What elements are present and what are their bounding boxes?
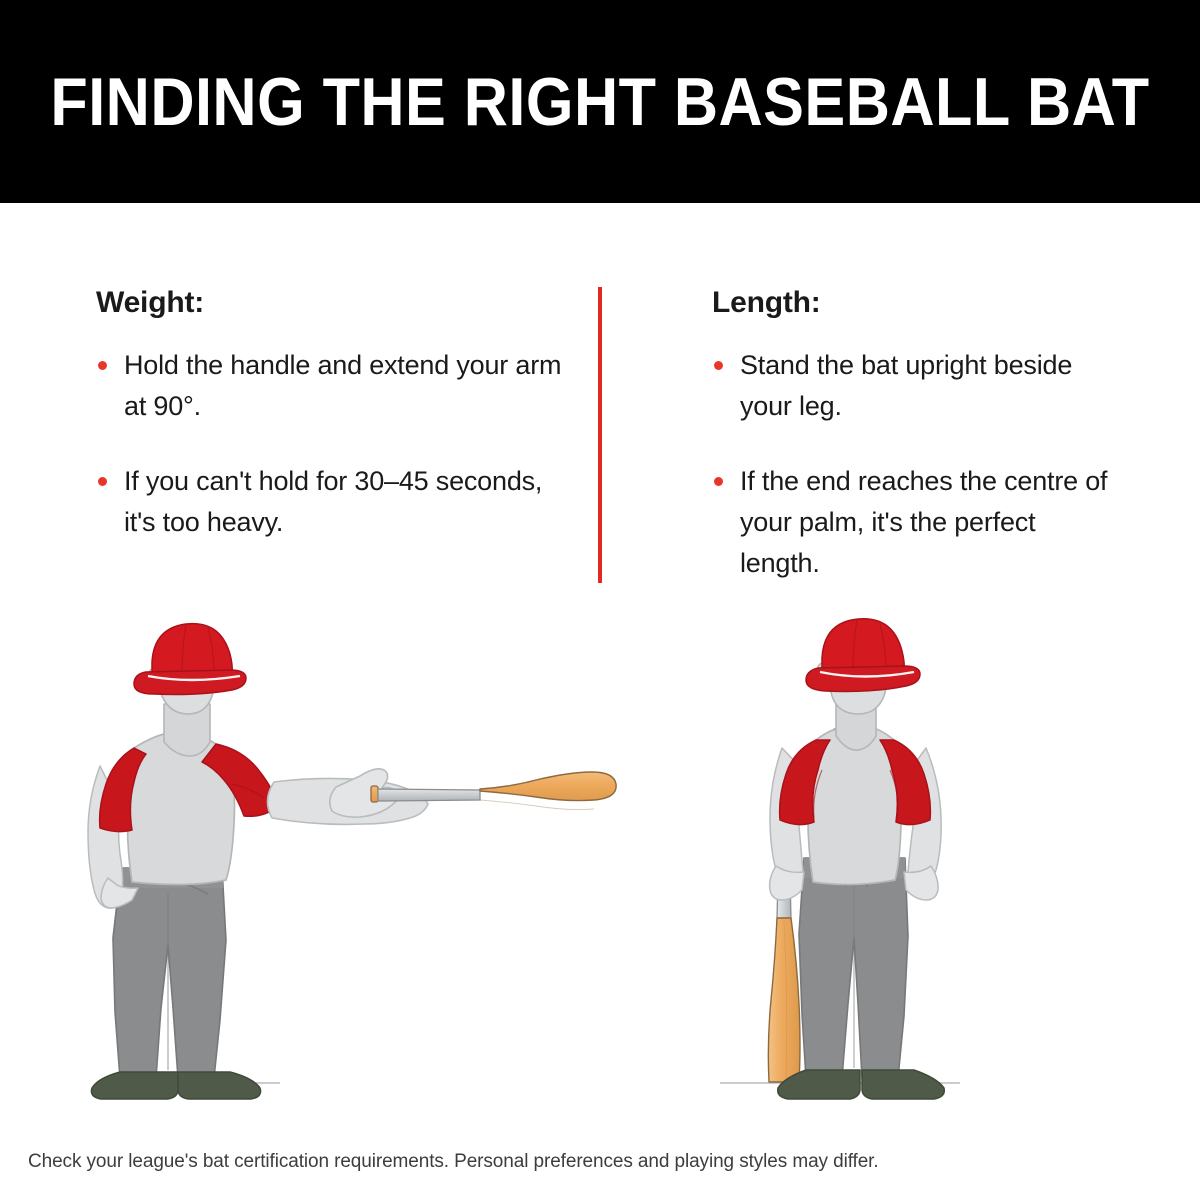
column-weight: Weight: Hold the handle and extend your … (96, 286, 566, 543)
shoes (91, 1072, 260, 1099)
list-item-text: Hold the handle and extend your arm at 9… (124, 350, 561, 421)
bullet-dot-icon (98, 477, 107, 486)
list-item: Stand the bat upright beside your leg. (712, 345, 1112, 427)
player-holding-bat-extended-arm-svg (60, 600, 620, 1120)
bullet-dot-icon (714, 361, 723, 370)
list-item-text: If you can't hold for 30–45 seconds, it'… (124, 466, 542, 537)
column-length-bullets: Stand the bat upright beside your leg. I… (712, 345, 1112, 584)
bullet-dot-icon (714, 477, 723, 486)
list-item: If you can't hold for 30–45 seconds, it'… (96, 461, 566, 543)
list-item: If the end reaches the centre of your pa… (712, 461, 1112, 584)
column-divider (598, 287, 602, 583)
pants (799, 858, 908, 1078)
column-weight-bullets: Hold the handle and extend your arm at 9… (96, 345, 566, 543)
list-item-text: Stand the bat upright beside your leg. (740, 350, 1072, 421)
shoes (778, 1070, 945, 1099)
column-length-heading: Length: (712, 286, 1112, 319)
column-length: Length: Stand the bat upright beside you… (712, 286, 1112, 584)
illustration-weight-test (60, 600, 620, 1125)
page-title: FINDING THE RIGHT BASEBALL BAT (60, 0, 1140, 203)
baseball-cap (806, 619, 920, 692)
bullet-dot-icon (98, 361, 107, 370)
player-bat-standing-upright-svg (700, 600, 1020, 1120)
footer-disclaimer: Check your league's bat certification re… (28, 1150, 1168, 1175)
illustration-length-test (700, 600, 1020, 1125)
list-item: Hold the handle and extend your arm at 9… (96, 345, 566, 427)
column-weight-heading: Weight: (96, 286, 566, 319)
baseball-cap (134, 624, 246, 695)
list-item-text: If the end reaches the centre of your pa… (740, 466, 1107, 578)
infographic-page: FINDING THE RIGHT BASEBALL BAT Weight: H… (0, 0, 1200, 1200)
